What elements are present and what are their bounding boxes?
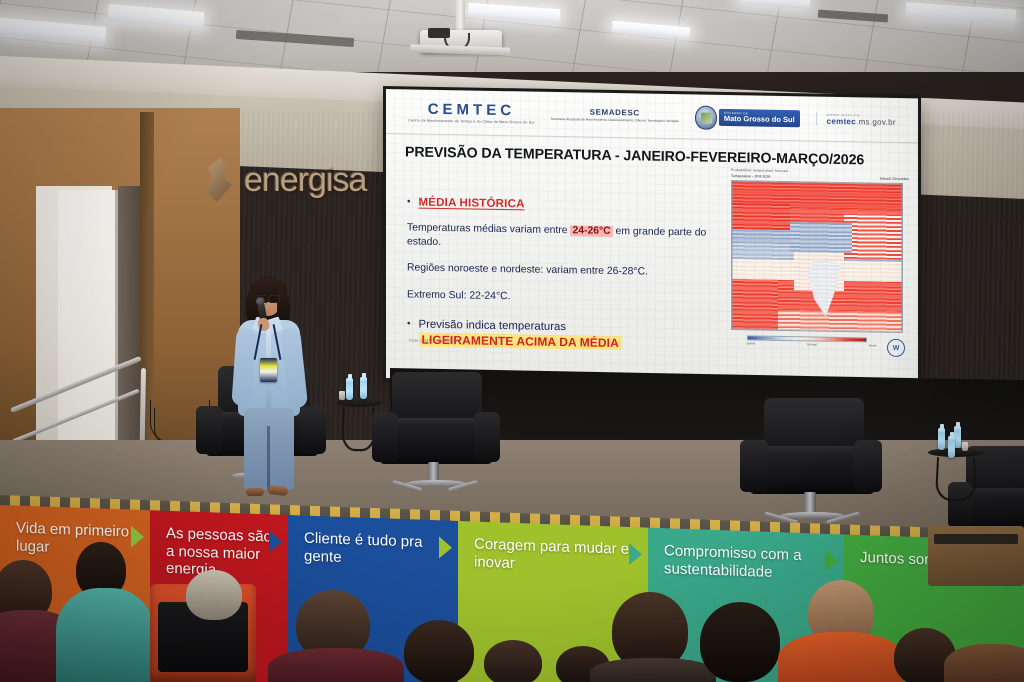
doorway[interactable] (58, 190, 120, 480)
audience-shoulders (268, 648, 404, 682)
previsao-label: Previsão indica temperaturas (419, 319, 622, 335)
bullet-dot-icon: • (407, 196, 411, 207)
slide-body: • MÉDIA HISTÓRICA Temperaturas médias va… (407, 196, 729, 354)
cemtec-name: CEMTEC (408, 100, 534, 119)
semadesc-subtitle: Secretaria de Estado de Meio Ambiente, D… (551, 117, 679, 124)
map-plot-area (731, 180, 903, 333)
water-bottle[interactable] (954, 426, 961, 448)
cemtec-subtitle: Centro de Monitoramento de Tempo e do Cl… (408, 118, 534, 125)
paragraph-1: Temperaturas médias variam entre 24-26°C… (407, 221, 729, 254)
audience-shoulders (56, 588, 154, 682)
ceiling (0, 0, 1024, 72)
bullet-dot-icon: • (407, 318, 411, 329)
p1-pre: Temperaturas médias variam entre (407, 222, 570, 236)
drinking-glass[interactable] (962, 442, 968, 451)
governo-name: Mato Grosso do Sul (724, 115, 795, 124)
presentation-slide: CEMTEC Centro de Monitoramento de Tempo … (385, 88, 919, 387)
drinking-glass[interactable] (339, 391, 345, 400)
side-table (928, 448, 984, 510)
bullet-previsao: • Previsão indica temperaturas LIGEIRAME… (407, 318, 729, 354)
side-table-legs (935, 457, 978, 501)
legend-below: Below (747, 341, 755, 345)
energisa-wordmark: energisa (244, 161, 366, 200)
temperature-forecast-map: Probabilistic temperature forecast Tempe… (731, 168, 909, 371)
audience-head (404, 620, 474, 682)
water-bottle[interactable] (948, 436, 955, 458)
cemtec-logo: CEMTEC Centro de Monitoramento de Tempo … (408, 100, 534, 125)
audience (0, 532, 1024, 682)
paragraph-2: Regiões noroeste e nordeste: variam entr… (407, 262, 729, 281)
armchair[interactable] (372, 372, 498, 498)
site-url: cemtec.ms.gov.br (827, 117, 896, 127)
audience-head (700, 602, 780, 682)
map-caption-right: Issued: December (880, 177, 909, 182)
water-bottle[interactable] (360, 377, 367, 399)
presenter (232, 276, 306, 504)
presenter-sandal (268, 485, 289, 496)
projection-screen: CEMTEC Centro de Monitoramento de Tempo … (385, 88, 919, 387)
energisa-wall-logo: energisa (200, 152, 396, 208)
paragraph-3: Extremo Sul: 22-24°C. (407, 289, 729, 308)
projector-mount-pole (456, 0, 465, 34)
map-caption-left: Temperature - JFM 2026 (731, 174, 770, 179)
p1-highlight: 24-26°C (570, 225, 612, 237)
legend-above: Above (868, 343, 877, 347)
side-table-top (928, 448, 984, 457)
wmo-logo-icon: W (887, 339, 905, 357)
auditorium-scene: energisa CEMTEC Centro de Monitoramento … (0, 0, 1024, 682)
energisa-bird-mark-icon (200, 156, 240, 204)
audience-shoulders (778, 632, 904, 682)
legend-normal: Normal (807, 342, 817, 346)
bullet-media-historica: • MÉDIA HISTÓRICA (407, 196, 729, 214)
armchair[interactable] (740, 398, 880, 528)
map-heatmap-canvas (732, 181, 902, 332)
semadesc-logo: SEMADESC Secretaria de Estado de Meio Am… (551, 107, 679, 124)
state-seal-icon (695, 105, 717, 129)
audience-shoulders (944, 644, 1024, 682)
slide-source-note: Fonte: CEMTEC/SEMADESC (409, 338, 457, 343)
map-legend-labels: Below Normal Above (747, 341, 877, 347)
presenter-sandal (246, 488, 264, 496)
governo-badge: GOVERNO DE Mato Grosso do Sul (719, 109, 800, 127)
site-url-brand: cemtec (827, 117, 856, 127)
audience-head (186, 570, 242, 620)
media-historica-label: MÉDIA HISTÓRICA (419, 197, 525, 211)
governo-ms-logo: GOVERNO DE Mato Grosso do Sul (695, 105, 800, 131)
slide-header-logos: CEMTEC Centro de Monitoramento de Tempo … (385, 90, 919, 143)
site-logo: acesse nosso site cemtec.ms.gov.br (816, 113, 896, 127)
site-url-suffix: .ms.gov.br (856, 117, 896, 127)
audience-head (484, 640, 542, 682)
presenter-jeans (244, 408, 294, 490)
slide-title: PREVISÃO DA TEMPERATURA - JANEIRO-FEVERE… (405, 144, 899, 169)
water-bottle[interactable] (938, 428, 945, 450)
audience-shoulders (590, 658, 716, 682)
water-bottle[interactable] (346, 378, 353, 400)
event-lanyard-badge (260, 358, 277, 382)
